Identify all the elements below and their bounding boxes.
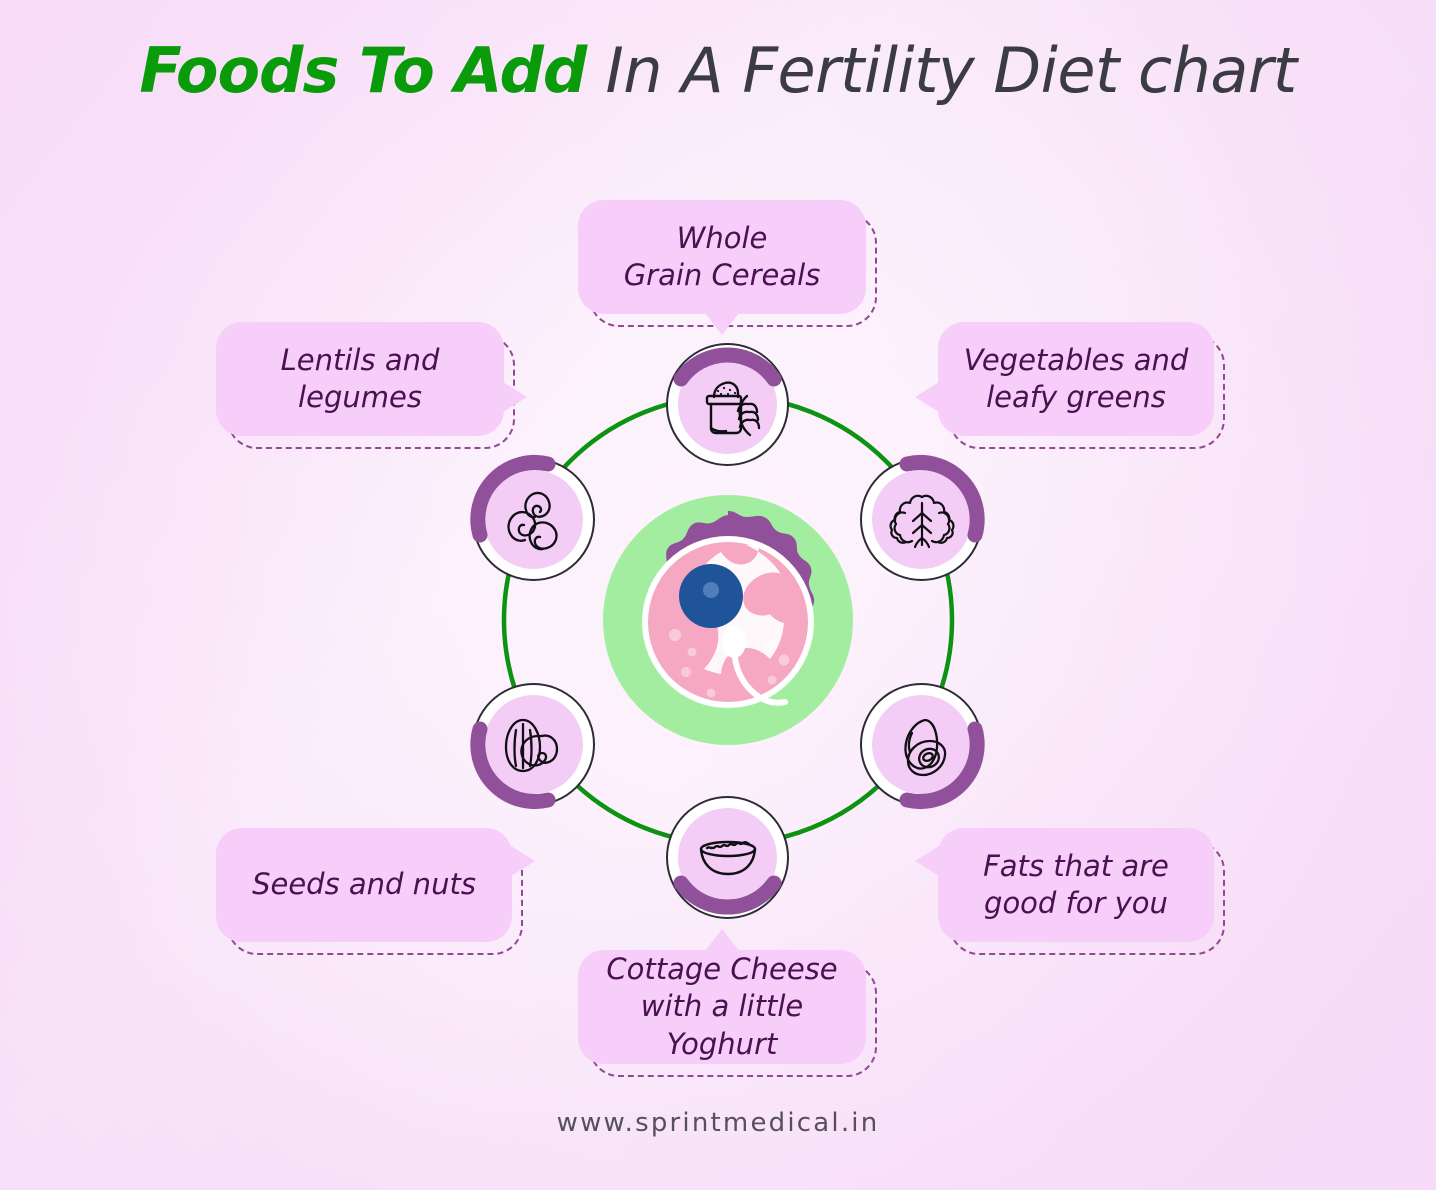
callout-whole-grain-cereals[interactable]: Whole Grain Cereals [578, 200, 866, 314]
callout-box: Cottage Cheese with a little Yoghurt [578, 950, 866, 1064]
page-title-highlight: Foods To Add [139, 34, 586, 107]
callout-tail [503, 382, 527, 412]
node-seeds-and-nuts[interactable] [472, 683, 595, 806]
callout-box: Fats that are good for you [938, 828, 1214, 942]
leafy-green-icon [885, 483, 959, 557]
node-cottage-cheese-yoghurt[interactable] [666, 796, 789, 919]
footer-website-url[interactable]: www.sprintmedical.in [0, 1108, 1436, 1138]
callout-tail [915, 382, 939, 412]
ovum-nucleolus [703, 582, 719, 598]
callout-box: Lentils and legumes [216, 322, 504, 436]
callout-tail [511, 846, 535, 876]
flour-sack-wheat-icon [691, 368, 765, 442]
callout-vegetables-leafy-greens[interactable]: Vegetables and leafy greens [938, 322, 1214, 436]
node-vegetables-leafy-greens[interactable] [860, 458, 983, 581]
infographic-poster: Foods To Add In A Fertility Diet chart [0, 0, 1436, 1190]
diagram-stage: Whole Grain Cereals Lentils and legumes … [0, 0, 1436, 1190]
callout-fats-good-for-you[interactable]: Fats that are good for you [938, 828, 1214, 942]
page-title: Foods To Add In A Fertility Diet chart [0, 38, 1436, 103]
callout-box: Whole Grain Cereals [578, 200, 866, 314]
callout-label: Seeds and nuts [252, 866, 476, 903]
callout-label: Vegetables and leafy greens [964, 342, 1189, 416]
callout-seeds-and-nuts[interactable]: Seeds and nuts [216, 828, 512, 942]
callout-tail [705, 313, 739, 335]
callout-box: Vegetables and leafy greens [938, 322, 1214, 436]
page-title-rest: In A Fertility Diet chart [586, 34, 1296, 107]
beans-legumes-icon [497, 483, 571, 557]
callout-label: Cottage Cheese with a little Yoghurt [594, 951, 850, 1062]
node-lentils-and-legumes[interactable] [472, 458, 595, 581]
callout-label: Lentils and legumes [281, 342, 440, 416]
avocado-icon [885, 708, 959, 782]
callout-label: Whole Grain Cereals [624, 220, 821, 294]
callout-lentils-and-legumes[interactable]: Lentils and legumes [216, 322, 504, 436]
callout-label: Fats that are good for you [983, 848, 1169, 922]
callout-tail [915, 846, 939, 876]
callout-tail [705, 929, 739, 951]
callout-cottage-cheese-yoghurt[interactable]: Cottage Cheese with a little Yoghurt [578, 950, 866, 1064]
yoghurt-bowl-icon [691, 821, 765, 895]
ovum-illustration [598, 490, 858, 750]
callout-box: Seeds and nuts [216, 828, 512, 942]
almond-cashew-icon [497, 708, 571, 782]
node-whole-grain-cereals[interactable] [666, 343, 789, 466]
node-fats-good-for-you[interactable] [860, 683, 983, 806]
